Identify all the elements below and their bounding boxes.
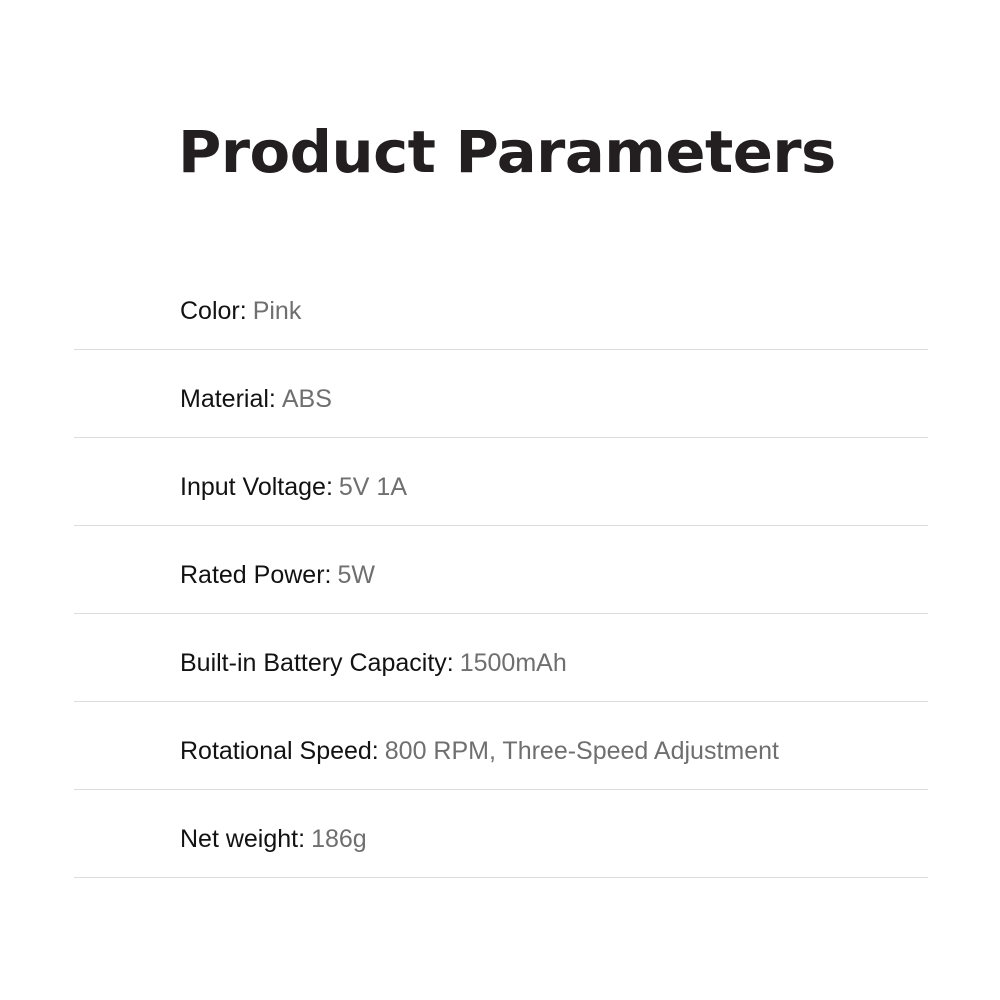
spec-row-content: Net weight:186g bbox=[180, 824, 367, 858]
spec-row-net-weight: Net weight:186g bbox=[74, 790, 928, 878]
spec-value: ABS bbox=[282, 385, 332, 413]
spec-table: Color:Pink Material:ABS Input Voltage:5V… bbox=[74, 262, 928, 878]
spec-row-content: Input Voltage:5V 1A bbox=[180, 472, 407, 506]
spec-row-material: Material:ABS bbox=[74, 350, 928, 438]
spec-label: Rated Power: bbox=[180, 561, 331, 589]
spec-value: 5V 1A bbox=[339, 473, 407, 501]
page-title: Product Parameters bbox=[178, 117, 836, 187]
spec-row-content: Rated Power:5W bbox=[180, 560, 375, 594]
spec-row-content: Built-in Battery Capacity:1500mAh bbox=[180, 648, 567, 682]
product-parameters-page: Product Parameters Color:Pink Material:A… bbox=[0, 0, 1000, 1000]
spec-label: Rotational Speed: bbox=[180, 737, 379, 765]
spec-row-rotational-speed: Rotational Speed:800 RPM, Three-Speed Ad… bbox=[74, 702, 928, 790]
spec-row-input-voltage: Input Voltage:5V 1A bbox=[74, 438, 928, 526]
spec-label: Built-in Battery Capacity: bbox=[180, 649, 454, 677]
spec-value: 800 RPM, Three-Speed Adjustment bbox=[385, 737, 779, 765]
spec-value: 5W bbox=[337, 561, 375, 589]
spec-label: Color: bbox=[180, 297, 247, 325]
spec-label: Input Voltage: bbox=[180, 473, 333, 501]
spec-label: Material: bbox=[180, 385, 276, 413]
spec-value: Pink bbox=[253, 297, 302, 325]
spec-value: 186g bbox=[311, 825, 367, 853]
spec-row-content: Material:ABS bbox=[180, 384, 332, 418]
spec-row-content: Rotational Speed:800 RPM, Three-Speed Ad… bbox=[180, 736, 779, 770]
spec-row-rated-power: Rated Power:5W bbox=[74, 526, 928, 614]
spec-label: Net weight: bbox=[180, 825, 305, 853]
spec-row-content: Color:Pink bbox=[180, 296, 301, 330]
spec-value: 1500mAh bbox=[460, 649, 567, 677]
spec-row-color: Color:Pink bbox=[74, 262, 928, 350]
spec-row-battery-capacity: Built-in Battery Capacity:1500mAh bbox=[74, 614, 928, 702]
